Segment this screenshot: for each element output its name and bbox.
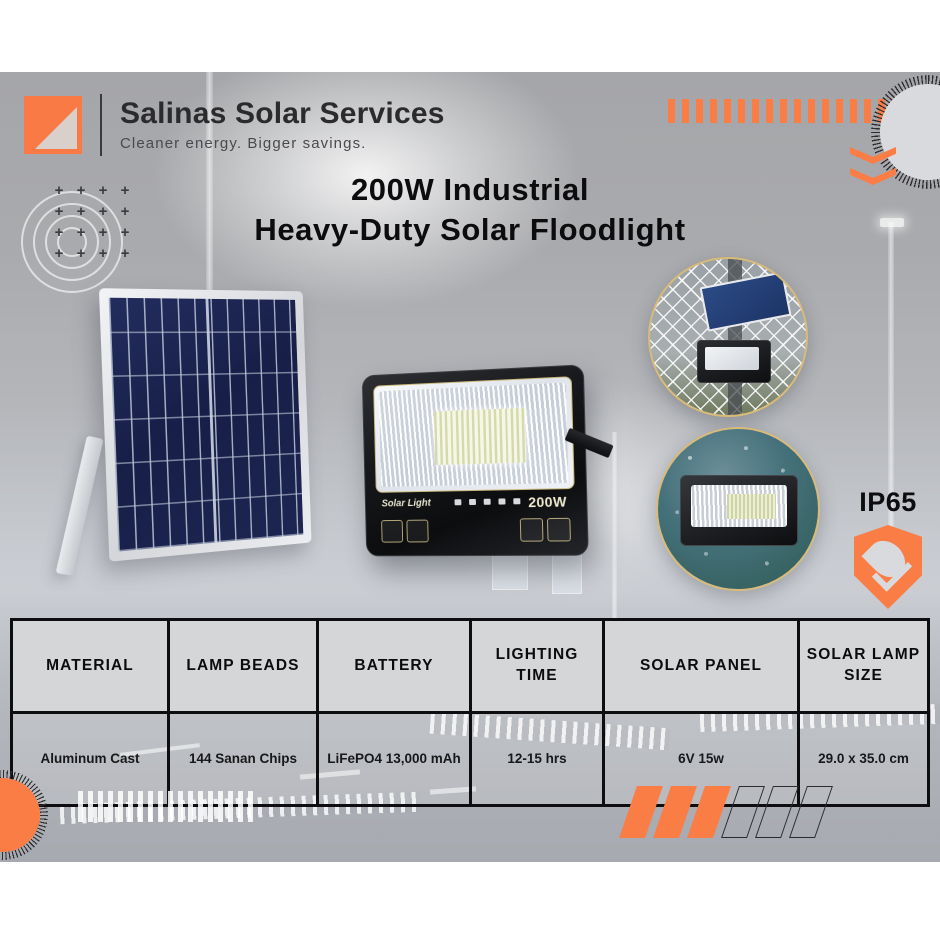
floodlight-lens [373, 376, 575, 493]
spec-header-lamp-beads: LAMP BEADS [169, 620, 318, 713]
spec-header-solar-lamp-size: SOLAR LAMP SIZE [799, 620, 929, 713]
decorative-orange-circle-icon [0, 778, 40, 852]
inset-floodlight [697, 340, 771, 383]
spec-header-solar-panel: SOLAR PANEL [604, 620, 799, 713]
ip65-rating-text: IP65 [838, 487, 938, 518]
decorative-chevrons-icon [850, 147, 896, 189]
decorative-plus-grid: ++++ ++++ ++++ ++++ [48, 180, 136, 264]
background-street-lamp [612, 432, 617, 622]
table-header-row: MATERIAL LAMP BEADS BATTERY LIGHTING TIM… [12, 620, 929, 713]
remote-icon [406, 520, 428, 543]
brand-tagline: Cleaner energy. Bigger savings. [120, 135, 445, 152]
background-sign [552, 554, 582, 594]
page-title: 200W Industrial Heavy-Duty Solar Floodli… [0, 170, 940, 251]
brand-text-block: Salinas Solar Services Cleaner energy. B… [120, 98, 445, 152]
shield-waterdrop-check-icon [854, 525, 922, 609]
battery-icon [520, 518, 544, 542]
logo-divider [100, 94, 102, 156]
title-line-1: 200W Industrial [0, 170, 940, 210]
brand-header: Salinas Solar Services Cleaner energy. B… [24, 94, 445, 156]
floodlight-led-array [434, 408, 526, 465]
brand-name: Salinas Solar Services [120, 98, 445, 130]
ip65-badge: IP65 [838, 487, 938, 609]
specifications-table: MATERIAL LAMP BEADS BATTERY LIGHTING TIM… [10, 618, 930, 807]
floodlight-indicator-lights [454, 498, 520, 505]
floodlight-feature-icons [381, 518, 571, 543]
inset-floodlight-wet [680, 475, 797, 546]
inset-photo-waterproof [656, 427, 820, 591]
logo-triangle-shape [35, 107, 77, 149]
product-poster: Salinas Solar Services Cleaner energy. B… [0, 72, 940, 862]
decorative-orange-bars-top [668, 99, 885, 123]
floodlight-wattage-text: 200W [528, 493, 567, 510]
decorative-slanted-bars [628, 786, 824, 838]
decorative-white-bars-bottom [78, 791, 253, 822]
title-line-2: Heavy-Duty Solar Floodlight [0, 210, 940, 250]
spec-header-lighting-time: LIGHTING TIME [471, 620, 604, 713]
bulb-icon [381, 520, 403, 543]
inset-photo-fence-install [648, 257, 808, 417]
solar-panel-frame [99, 288, 312, 562]
inset-led-array [727, 494, 775, 519]
spec-value-lighting-time: 12-15 hrs [471, 713, 604, 806]
spec-header-material: MATERIAL [12, 620, 169, 713]
spec-value-battery: LiFePO4 13,000 mAh [318, 713, 471, 806]
floodlight-housing: Solar Light 200W [362, 364, 589, 556]
spec-header-battery: BATTERY [318, 620, 471, 713]
waterproof-icon [547, 518, 571, 542]
floodlight-brand-text: Solar Light [382, 498, 431, 510]
brand-logo-icon [24, 96, 82, 154]
floodlight-product-image: Solar Light 200W [362, 364, 589, 556]
solar-panel-product-image [99, 288, 312, 562]
